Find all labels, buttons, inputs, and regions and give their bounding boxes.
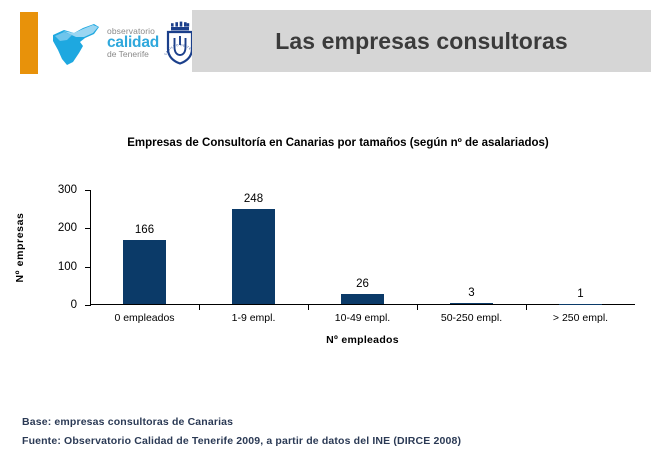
bar-value-label: 248 bbox=[244, 193, 263, 205]
observatorio-logo: observatorio calidad de Tenerife bbox=[20, 12, 197, 74]
y-axis-title: Nº empresas bbox=[14, 190, 30, 305]
page-title: Las empresas consultoras bbox=[275, 28, 568, 55]
tenerife-island-icon bbox=[50, 19, 102, 67]
x-axis-tick bbox=[417, 305, 418, 310]
chart-container: Empresas de Consultoría en Canarias por … bbox=[0, 128, 664, 368]
y-axis-line bbox=[90, 190, 91, 305]
x-axis-line bbox=[90, 304, 635, 305]
x-axis-category-label: > 250 empl. bbox=[553, 312, 608, 324]
y-axis-tick-label: 200 bbox=[58, 222, 77, 234]
x-axis-category-label: 50-250 empl. bbox=[441, 312, 502, 324]
bar[interactable] bbox=[450, 303, 493, 304]
bar[interactable] bbox=[123, 240, 166, 304]
plot-area: 01002003001660 empleados2481-9 empl.2610… bbox=[90, 190, 635, 305]
y-axis-tick: 200 bbox=[85, 228, 91, 229]
footer-source-line: Fuente: Observatorio Calidad de Tenerife… bbox=[22, 432, 642, 451]
y-axis-tick-label: 100 bbox=[58, 261, 77, 273]
orange-accent-bar bbox=[20, 12, 38, 74]
y-axis-tick: 300 bbox=[85, 190, 91, 191]
slide-header: observatorio calidad de Tenerife bbox=[0, 0, 664, 85]
x-axis-tick bbox=[308, 305, 309, 310]
slide-footer: Base: empresas consultoras de Canarias F… bbox=[22, 413, 642, 452]
x-axis-tick bbox=[199, 305, 200, 310]
x-axis-category-label: 1-9 empl. bbox=[232, 312, 276, 324]
logo-line-de-tenerife: de Tenerife bbox=[107, 50, 159, 59]
x-axis-tick bbox=[526, 305, 527, 310]
x-axis-category-label: 0 empleados bbox=[114, 312, 174, 324]
slide-canvas: observatorio calidad de Tenerife bbox=[0, 0, 664, 461]
x-axis-category-label: 10-49 empl. bbox=[335, 312, 390, 324]
bar[interactable] bbox=[232, 209, 275, 304]
x-axis-title: Nº empleados bbox=[90, 334, 635, 346]
y-axis-tick: 100 bbox=[85, 267, 91, 268]
bar-value-label: 3 bbox=[468, 287, 474, 299]
chart-title: Empresas de Consultoría en Canarias por … bbox=[88, 136, 588, 152]
y-axis-tick-label: 300 bbox=[58, 184, 77, 196]
footer-base-line: Base: empresas consultoras de Canarias bbox=[22, 413, 642, 432]
logo-wordmark: observatorio calidad de Tenerife bbox=[107, 27, 159, 58]
bar-value-label: 1 bbox=[577, 288, 583, 300]
bar[interactable] bbox=[341, 294, 384, 304]
bar-value-label: 26 bbox=[356, 278, 369, 290]
y-axis-tick-label: 0 bbox=[71, 299, 77, 311]
bar-value-label: 166 bbox=[135, 224, 154, 236]
header-title-bar: Las empresas consultoras bbox=[192, 10, 651, 72]
y-axis-tick: 0 bbox=[85, 305, 91, 306]
